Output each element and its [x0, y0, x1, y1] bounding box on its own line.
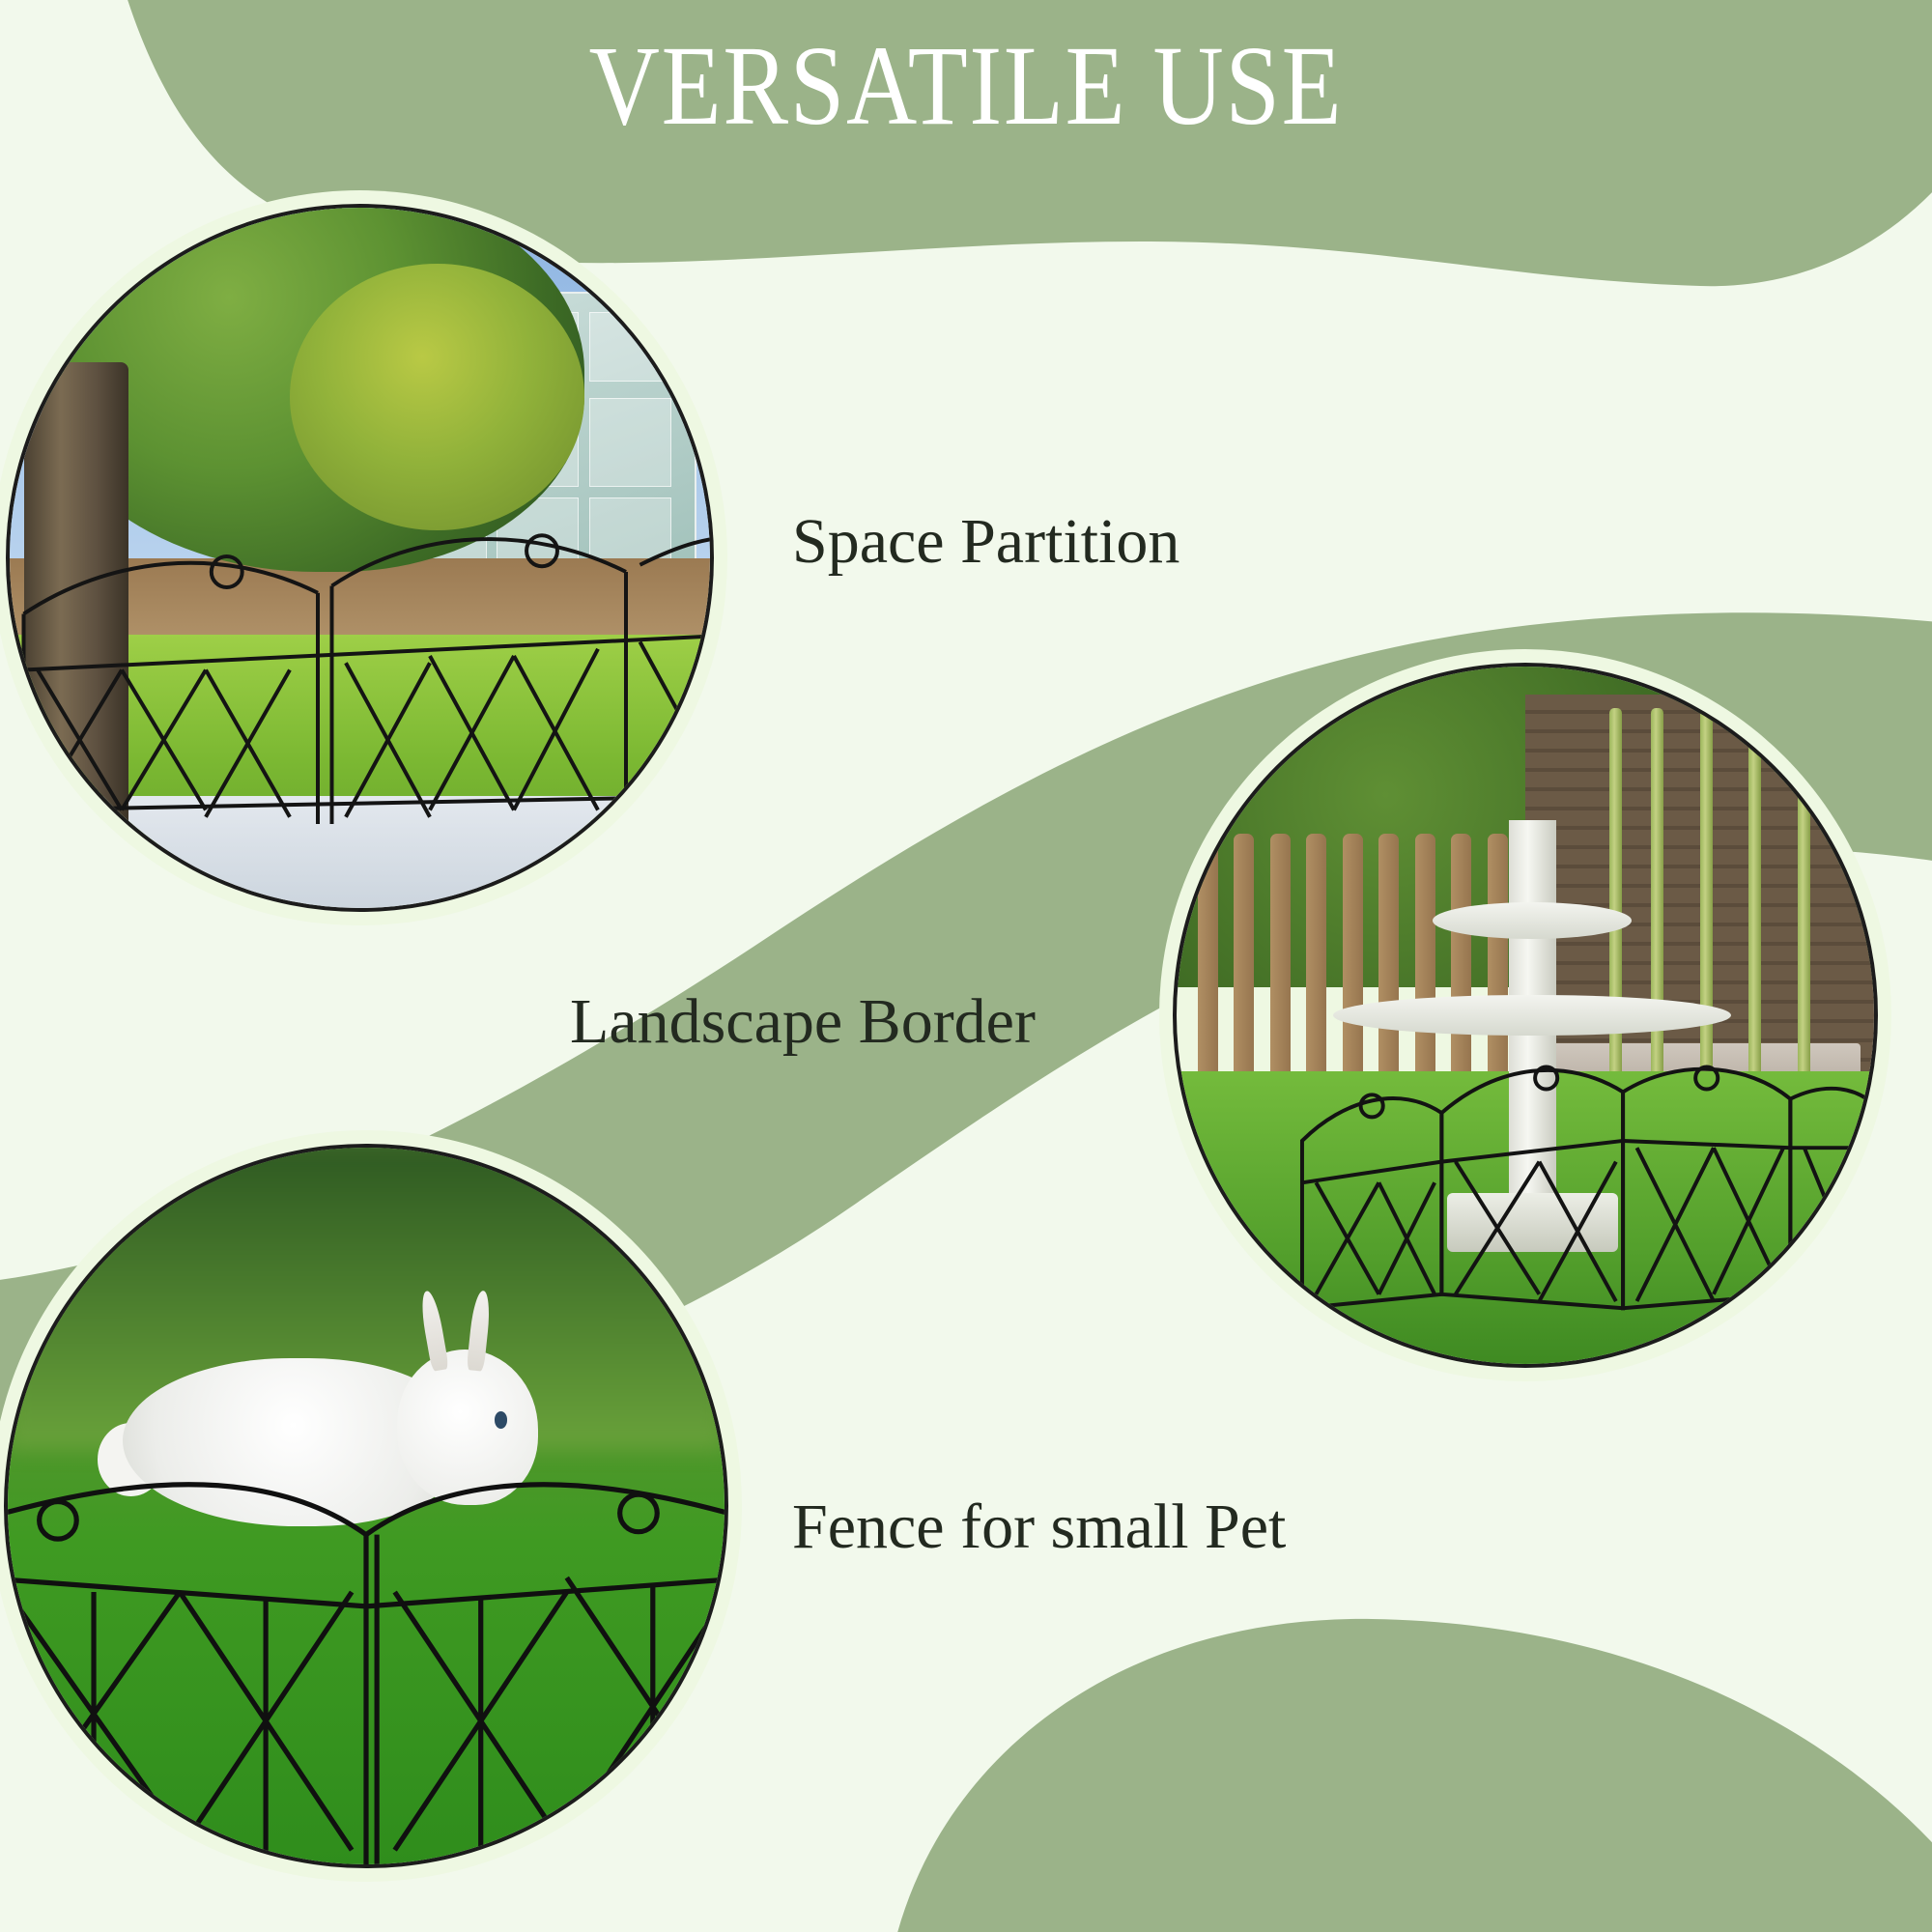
- fence-panel-icon: [10, 208, 710, 908]
- caption-landscape-border: Landscape Border: [570, 987, 1036, 1058]
- fence-panel-icon: [1177, 667, 1874, 1364]
- infographic-canvas: VERSATILE USE: [0, 0, 1932, 1932]
- scene-rabbit-grass: [8, 1148, 724, 1864]
- caption-fence-for-small-pet: Fence for small Pet: [792, 1492, 1286, 1563]
- page-title: VERSATILE USE: [135, 29, 1797, 143]
- bottom-hill-shape: [889, 1619, 1932, 1932]
- scene-fountain-garden: [1177, 667, 1874, 1364]
- photo-landscape-border: [1177, 667, 1874, 1364]
- fence-panel-icon: [8, 1148, 724, 1864]
- photo-fence-for-small-pet: [8, 1148, 724, 1864]
- photo-space-partition: [10, 208, 710, 908]
- scene-lawn-building: [10, 208, 710, 908]
- caption-space-partition: Space Partition: [792, 507, 1179, 578]
